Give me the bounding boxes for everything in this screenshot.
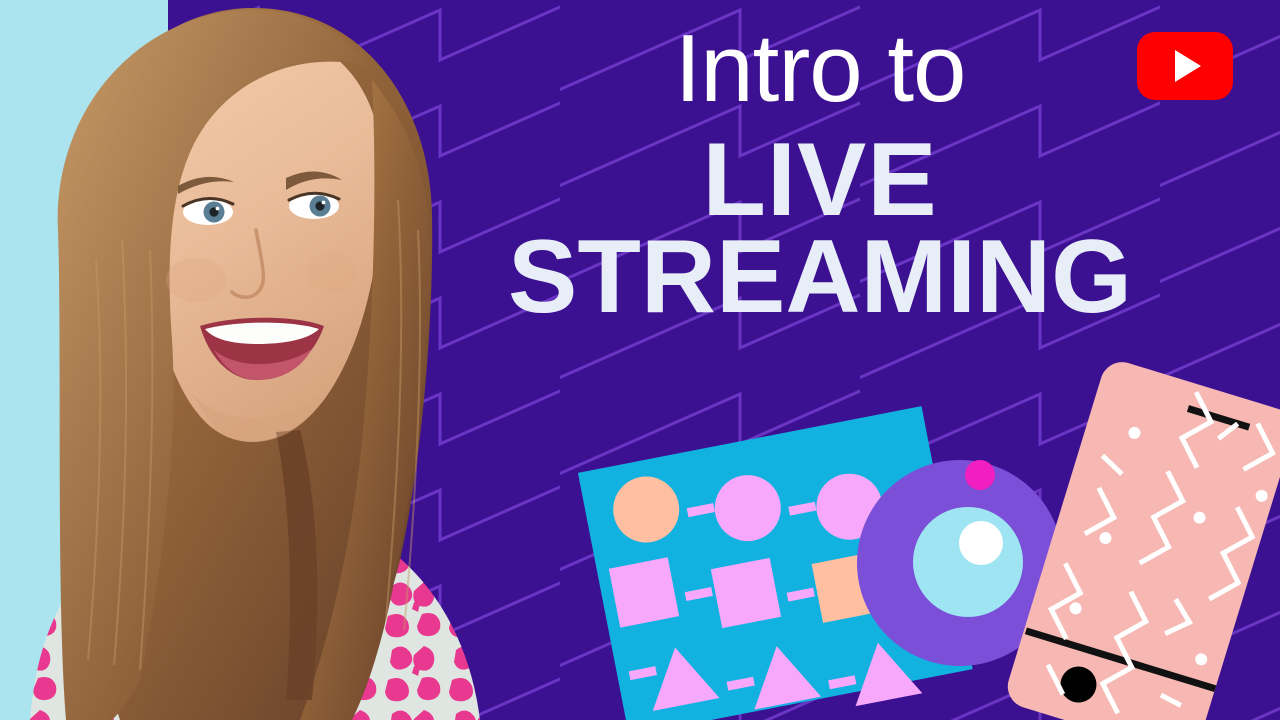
lens-highlight (959, 521, 1003, 565)
thumbnail-canvas: Intro to LIVE STREAMING (0, 0, 1280, 720)
lens-glass (913, 507, 1023, 617)
card-square-1 (609, 557, 679, 627)
graphics-cluster (0, 0, 1280, 720)
card-square-2 (711, 558, 781, 628)
lens-rec-indicator (965, 460, 995, 490)
